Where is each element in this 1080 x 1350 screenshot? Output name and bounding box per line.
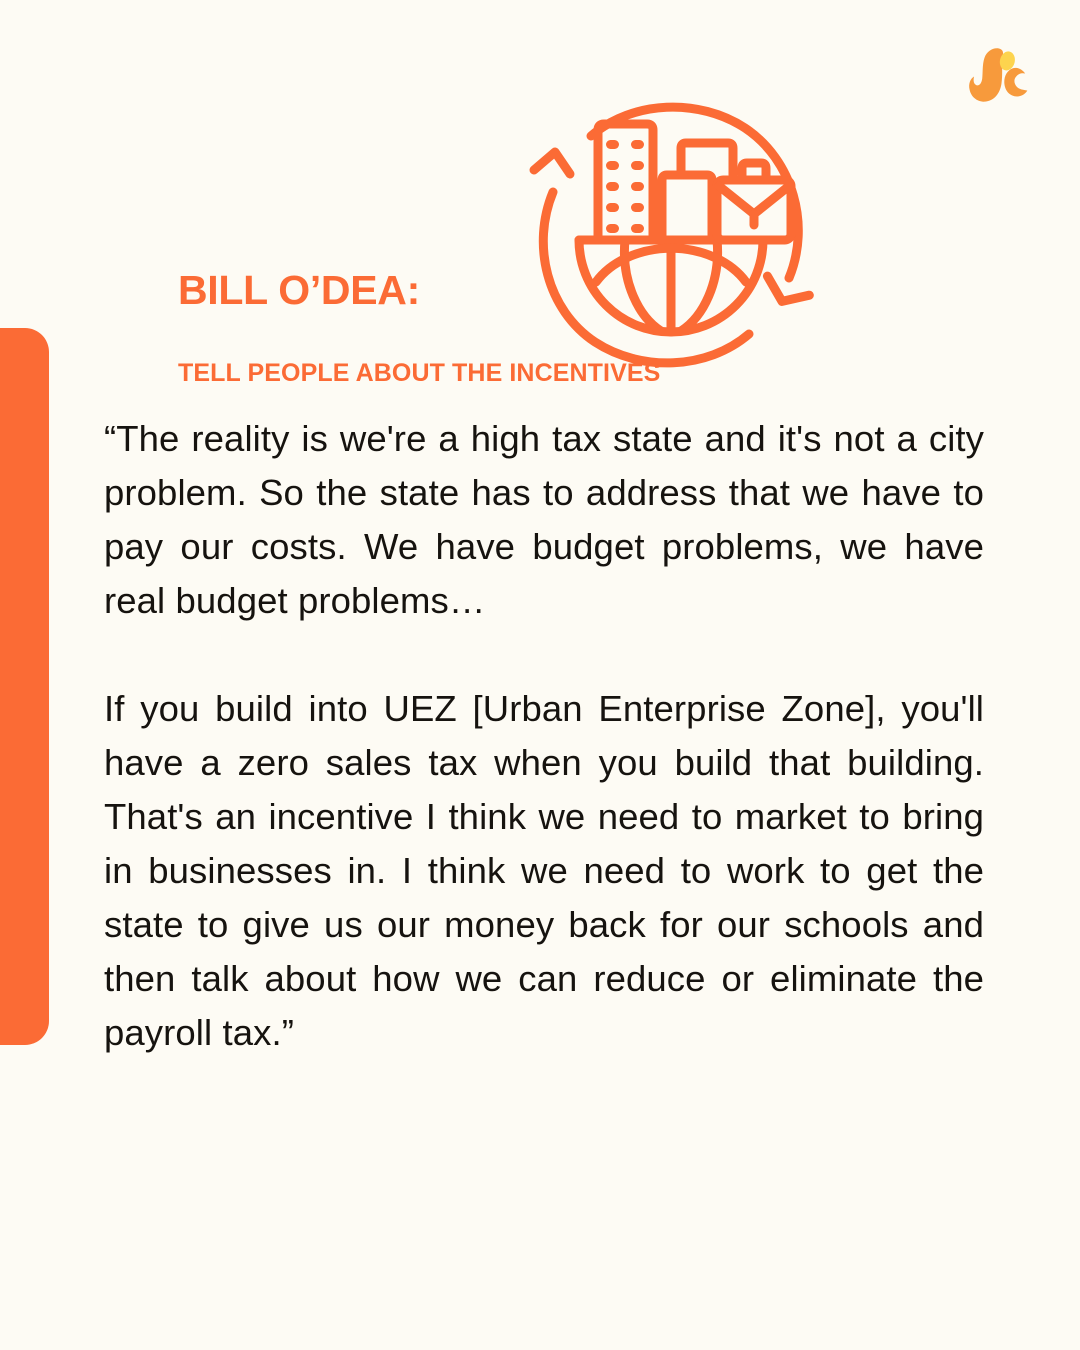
building-windows — [606, 140, 644, 233]
topic-headline: TELL PEOPLE ABOUT THE INCENTIVES — [178, 360, 984, 388]
jc-monogram-logo — [960, 38, 1034, 112]
back-building — [681, 143, 733, 175]
quote-card-content: BILL O’DEA: TELL PEOPLE ABOUT THE INCENT… — [104, 268, 984, 1060]
quote-paragraph-1: “The reality is we're a high tax state a… — [104, 412, 984, 628]
mid-building — [662, 175, 712, 240]
speaker-name: BILL O’DEA: — [178, 268, 984, 313]
quote-paragraph-2: If you build into UEZ [Urban Enterprise … — [104, 682, 984, 1060]
quote-body: “The reality is we're a high tax state a… — [104, 412, 984, 1060]
paragraph-spacer — [104, 628, 984, 682]
tall-building — [598, 124, 653, 240]
arrowhead-up — [534, 152, 570, 174]
left-accent-bar — [0, 328, 49, 1045]
